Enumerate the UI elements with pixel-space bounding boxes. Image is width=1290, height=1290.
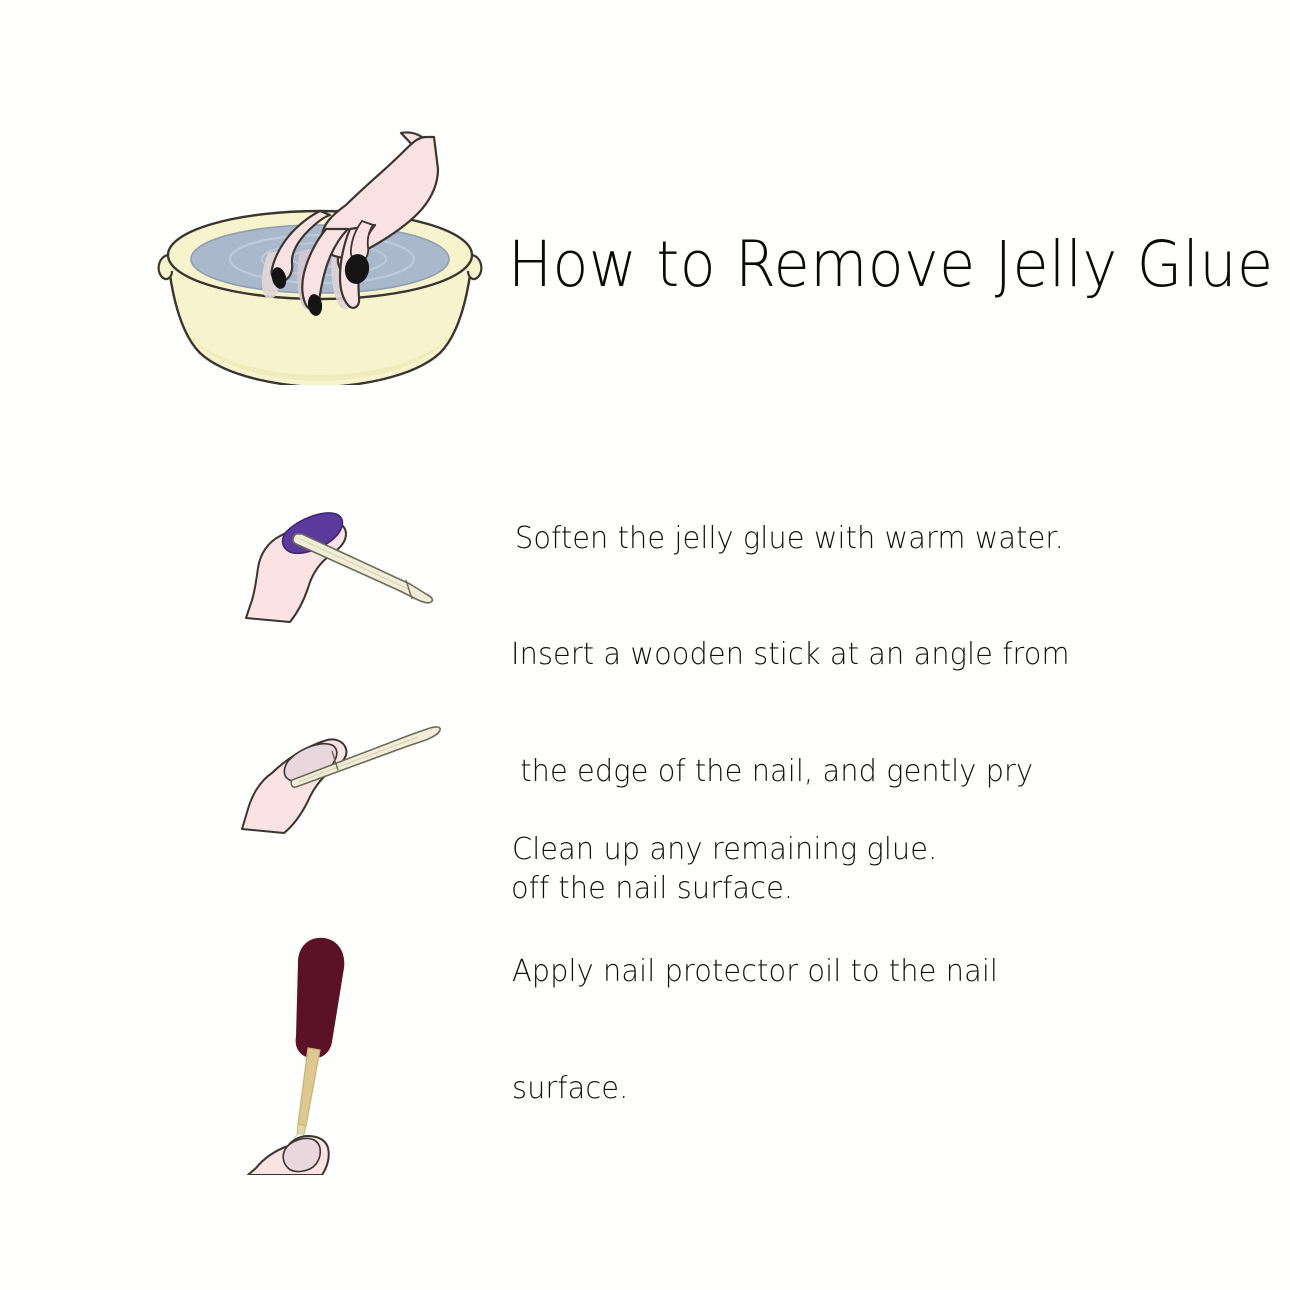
step-2-line-1: Insert a wooden stick at an angle from	[511, 635, 1070, 674]
step-1-line-1: Soften the jelly glue with warm water.	[515, 519, 1064, 558]
step-4-text: Apply nail protector oil to the nail sur…	[512, 874, 998, 1186]
finger-purple-nail-with-stick-icon	[228, 500, 458, 625]
infographic-page: How to Remove Jelly Glue	[0, 0, 1290, 1290]
oil-dropper-on-nail-icon	[236, 930, 376, 1175]
finger-bare-nail-with-stick-icon	[232, 715, 467, 840]
hand-soaking-in-bowl-icon	[150, 125, 490, 385]
step-4-line-1: Apply nail protector oil to the nail	[512, 952, 998, 991]
step-4-line-2: surface.	[512, 1069, 998, 1108]
page-title: How to Remove Jelly Glue	[508, 228, 1273, 301]
step-3-line-1: Clean up any remaining glue.	[512, 830, 937, 869]
